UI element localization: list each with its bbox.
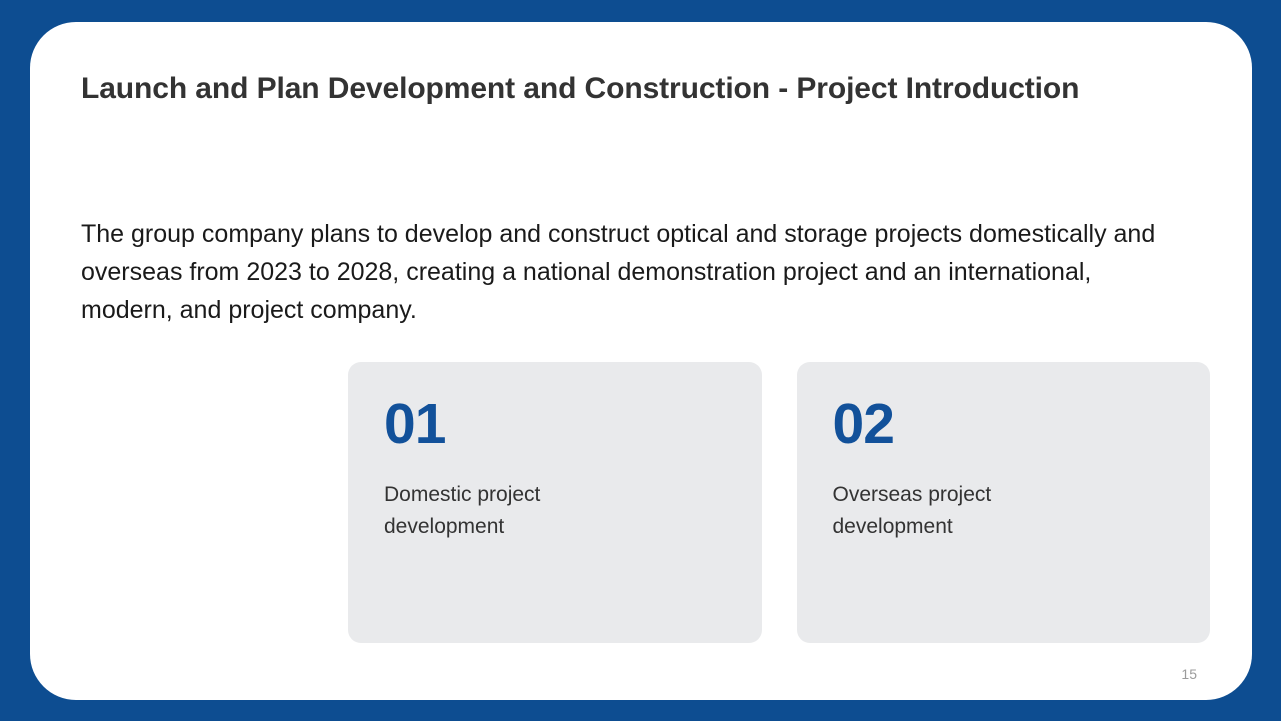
card-row: 01 Domestic project development 02 Overs…	[348, 362, 1210, 643]
page-number: 15	[1181, 666, 1197, 682]
slide-frame: Launch and Plan Development and Construc…	[0, 0, 1281, 721]
info-card-overseas[interactable]: 02 Overseas project development	[797, 362, 1211, 643]
card-number-02: 02	[833, 396, 1211, 453]
slide-body-paragraph: The group company plans to develop and c…	[81, 215, 1156, 329]
card-label-overseas: Overseas project development	[833, 479, 1073, 543]
card-label-domestic: Domestic project development	[384, 479, 624, 543]
info-card-domestic[interactable]: 01 Domestic project development	[348, 362, 762, 643]
slide-content-panel: Launch and Plan Development and Construc…	[30, 22, 1252, 700]
page-title: Launch and Plan Development and Construc…	[81, 69, 1141, 108]
card-number-01: 01	[384, 396, 762, 453]
